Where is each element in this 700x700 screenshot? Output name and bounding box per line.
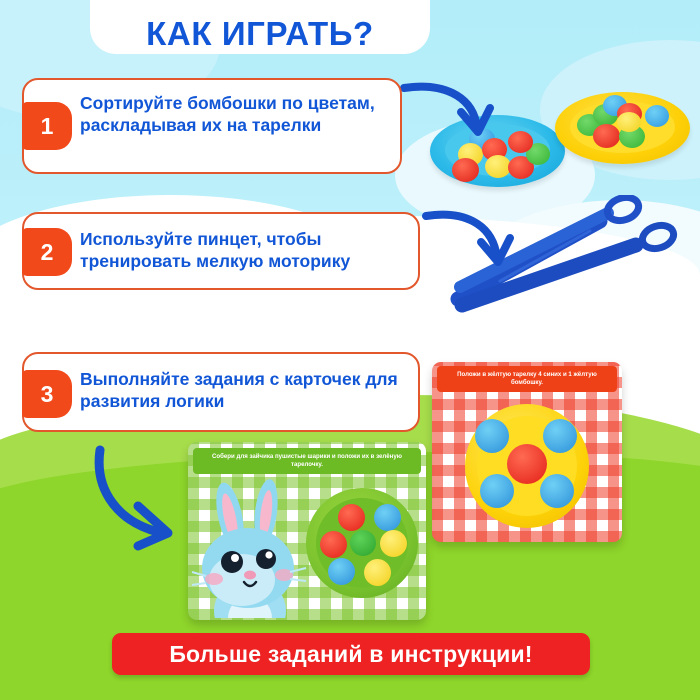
task-card-red[interactable]: Положи в жёлтую тарелку 4 синих и 1 жёлт… [432,362,622,542]
bottom-banner-text: Больше заданий в инструкции! [169,641,532,668]
poster: КАК ИГРАТЬ? [0,0,700,700]
bottom-banner[interactable]: Больше заданий в инструкции! [112,633,590,675]
task-card-red-label: Положи в жёлтую тарелку 4 синих и 1 жёлт… [437,366,617,392]
pompom-red [593,124,620,148]
step-number-badge-3: 3 [22,370,72,418]
step-card-1[interactable]: 1 Сортируйте бомбошки по цветам, расклад… [22,78,402,174]
card-pompom-blue [475,419,509,453]
card-pompom-blue [543,419,577,453]
step-card-3[interactable]: 3 Выполняйте задания с карточек для разв… [22,352,420,432]
card-pompom-red [507,444,547,484]
page-title: КАК ИГРАТЬ? [146,17,374,50]
step-number-badge-2: 2 [22,228,72,276]
step-card-2[interactable]: 2 Использyйте пинцет, чтобы тренировать … [22,212,420,290]
step-number-badge-1: 1 [22,102,72,150]
step-text-2: Использyйте пинцет, чтобы тренировать ме… [80,228,410,272]
card-pompom-blue [480,474,514,508]
curved-arrow-icon-step1 [398,78,513,148]
pompom-blue [645,105,669,127]
step-text-1: Сортируйте бомбошки по цветам, раскладыв… [80,92,390,136]
task-card-green[interactable]: Собери для зайчика пушистые шарики и пол… [188,442,426,620]
step-text-3: Выполняйте задания с карточек для развит… [80,368,410,412]
card-pompom-red [338,504,365,531]
bunny-icon [190,476,320,618]
pompom-yellow [617,112,641,132]
card-pompom-blue [328,558,355,585]
task-card-green-label: Собери для зайчика пушистые шарики и пол… [193,448,421,474]
card-pompom-red [320,531,347,558]
curved-arrow-icon-step2 [422,208,527,278]
card-pompom-yellow [380,530,407,557]
card-pompom-blue [374,504,401,531]
curved-arrow-icon-step3 [86,440,196,552]
card-pompom-green [350,530,376,556]
card-pompom-blue [540,474,574,508]
title-banner: КАК ИГРАТЬ? [90,0,430,54]
card-pompom-yellow [364,559,391,586]
pompom-red [452,158,479,182]
